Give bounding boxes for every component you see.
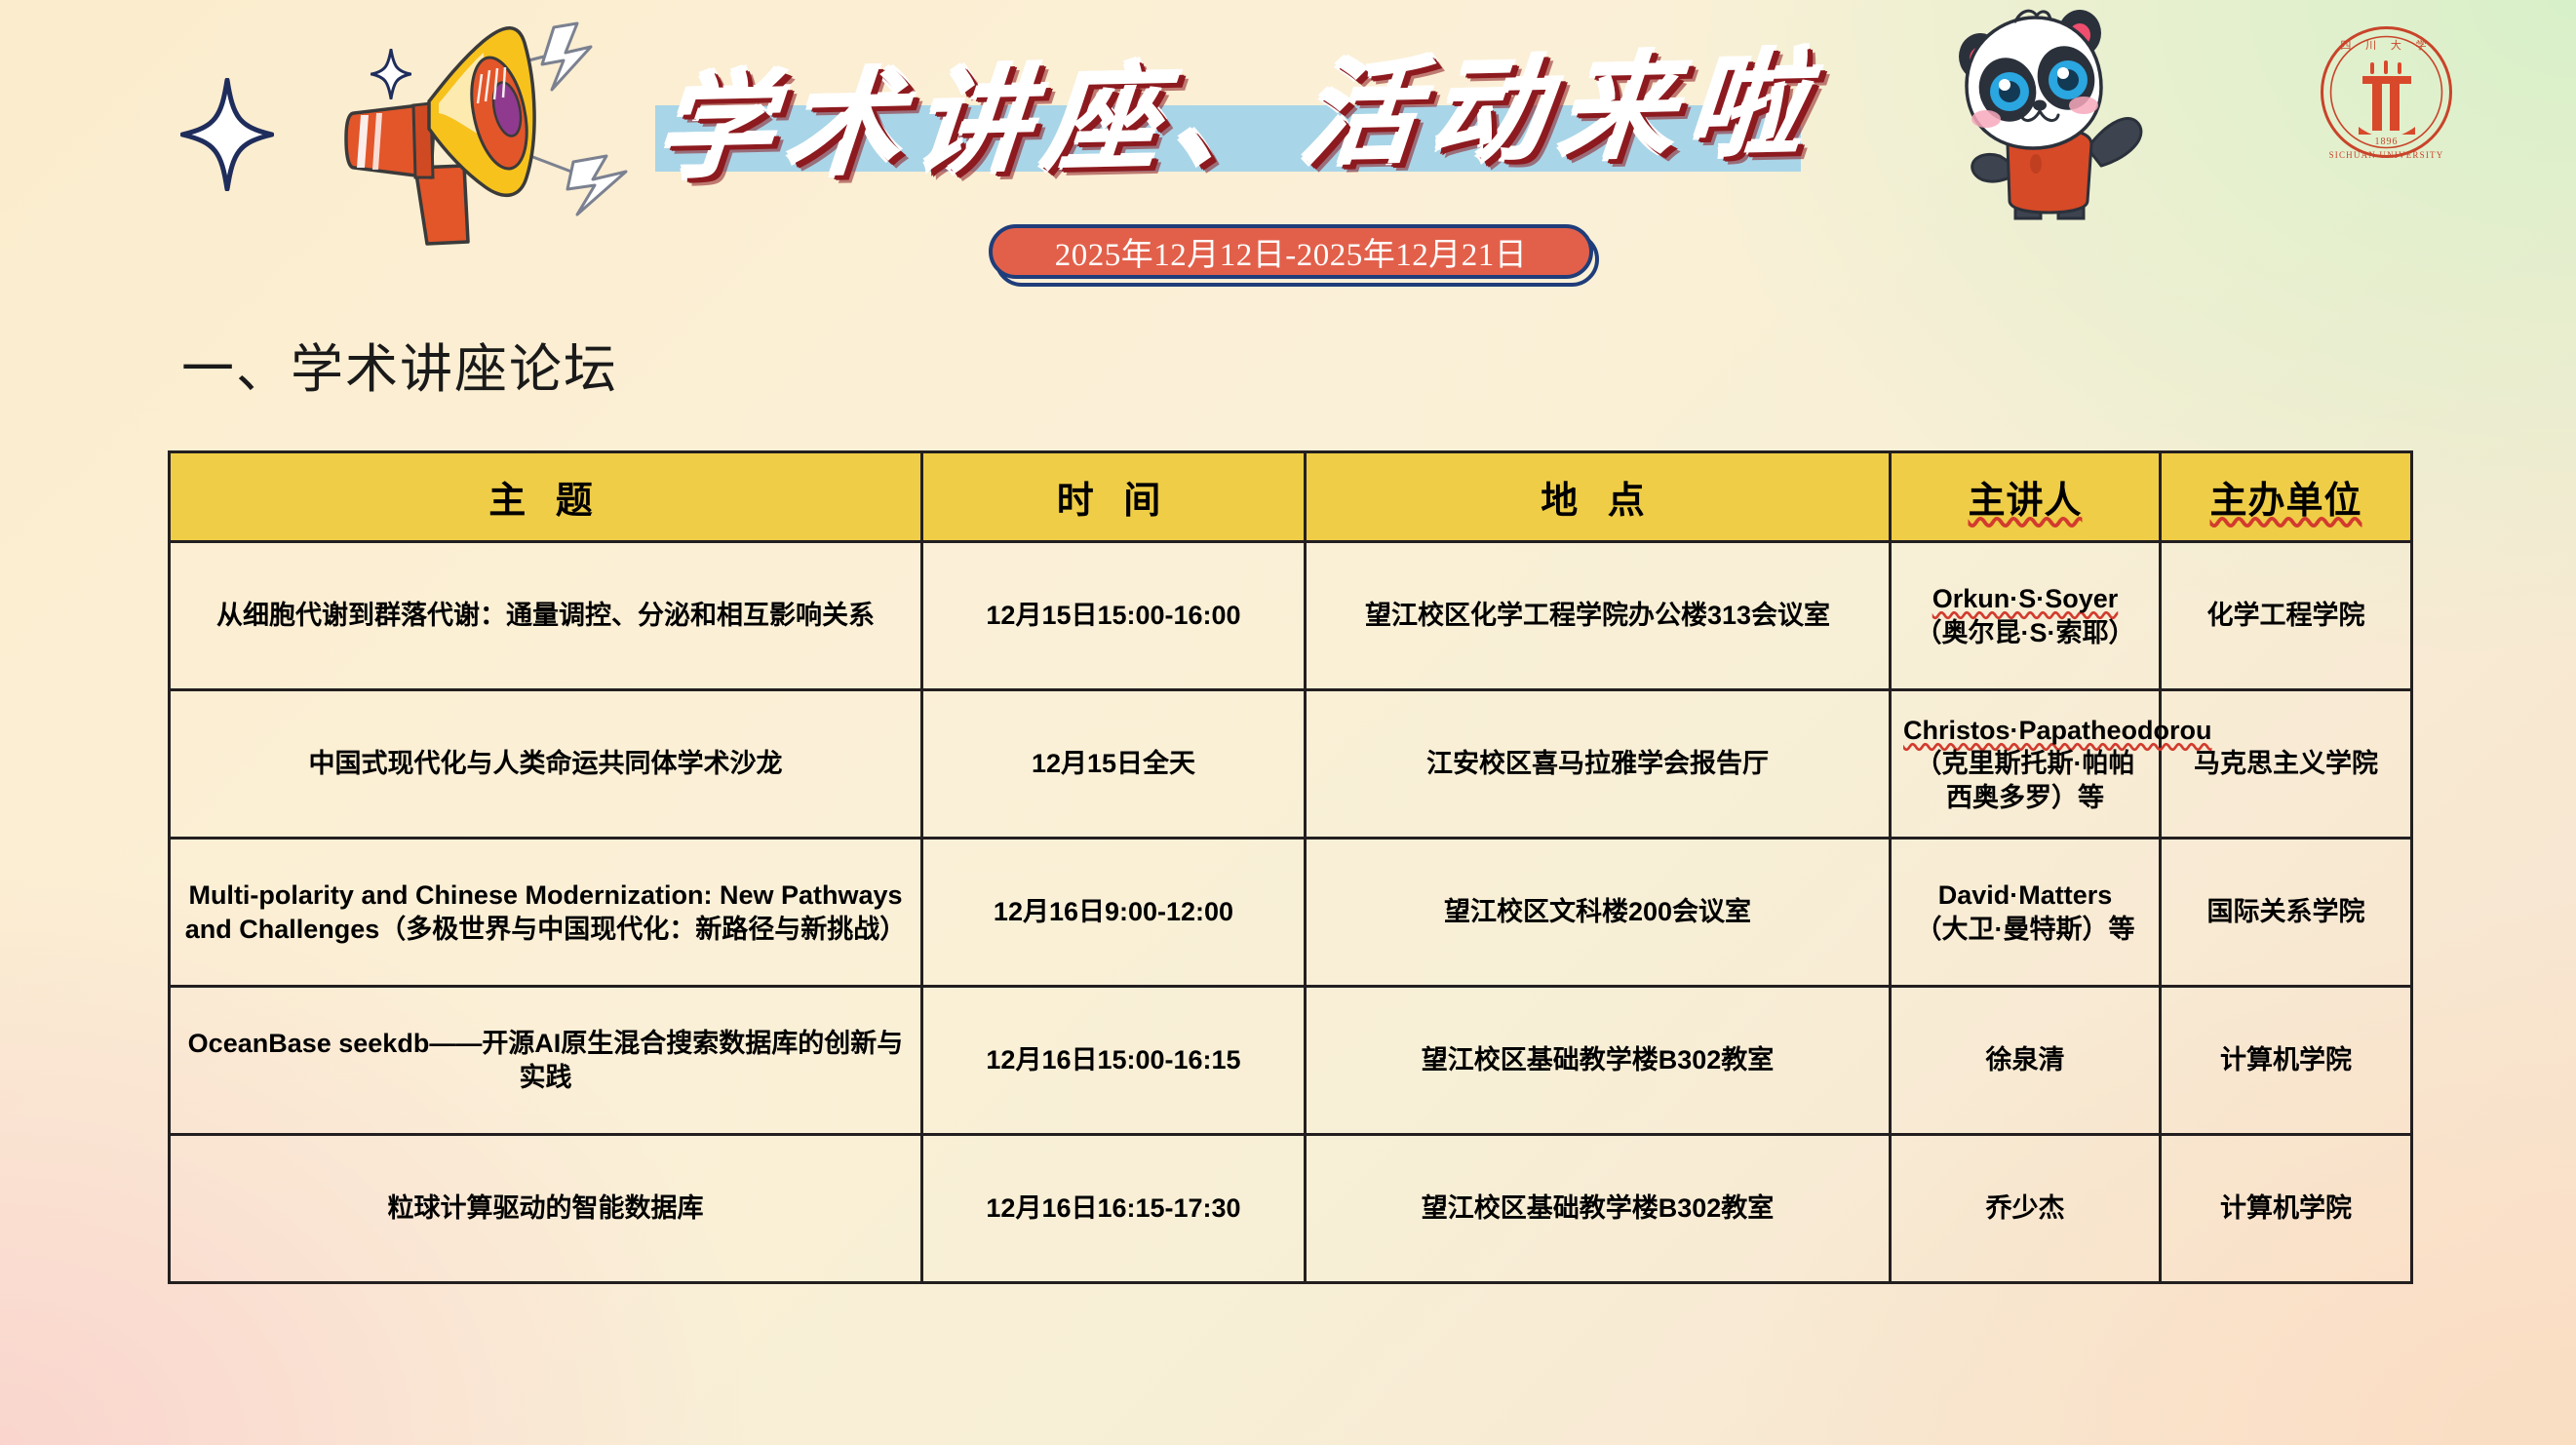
cell-place: 望江校区基础教学楼B302教室 bbox=[1306, 987, 1891, 1135]
table-row: 从细胞代谢到群落代谢：通量调控、分泌和相互影响关系 12月15日15:00-16… bbox=[170, 542, 2412, 690]
speaker-latin-name: David·Matters bbox=[1938, 880, 2113, 910]
cell-topic: Multi-polarity and Chinese Modernization… bbox=[170, 839, 922, 987]
cell-time: 12月16日15:00-16:15 bbox=[922, 987, 1306, 1135]
column-header-organizer: 主办单位 bbox=[2209, 481, 2361, 522]
schedule-table: 主 题 时 间 地 点 主讲人 主办单位 从细胞代谢到群落代谢：通量调控、分泌和… bbox=[168, 450, 2413, 1284]
table-row: 中国式现代化与人类命运共同体学术沙龙 12月15日全天 江安校区喜马拉雅学会报告… bbox=[170, 690, 2412, 839]
column-header-speaker: 主讲人 bbox=[1968, 481, 2082, 522]
table-row: 粒球计算驱动的智能数据库 12月16日16:15-17:30 望江校区基础教学楼… bbox=[170, 1135, 2412, 1283]
speaker-chinese-name: （大卫·曼特斯）等 bbox=[1916, 915, 2135, 944]
column-header-topic: 主 题 bbox=[170, 452, 922, 542]
speaker-chinese-name: （克里斯托斯·帕帕西奥多罗）等 bbox=[1916, 749, 2135, 812]
speaker-chinese-name: （奥尔昆·S·索耶） bbox=[1916, 618, 2135, 647]
svg-text:四 川 大 学: 四 川 大 学 bbox=[2340, 38, 2432, 52]
sichuan-university-logo: 1896 四 川 大 学 SICHUAN UNIVERSITY bbox=[2316, 21, 2457, 163]
date-range-badge: 2025年12月12日-2025年12月21日 bbox=[989, 224, 1593, 279]
cell-organizer: 化学工程学院 bbox=[2161, 542, 2412, 690]
cell-time: 12月15日全天 bbox=[922, 690, 1306, 839]
column-header-place: 地 点 bbox=[1306, 452, 1891, 542]
cell-topic: 从细胞代谢到群落代谢：通量调控、分泌和相互影响关系 bbox=[170, 542, 922, 690]
page-title: 学术讲座、活动来啦 bbox=[636, 15, 1841, 196]
cell-time: 12月16日16:15-17:30 bbox=[922, 1135, 1306, 1283]
cell-place: 江安校区喜马拉雅学会报告厅 bbox=[1306, 690, 1891, 839]
megaphone-icon bbox=[322, 20, 658, 254]
cell-time: 12月16日9:00-12:00 bbox=[922, 839, 1306, 987]
cell-speaker: Orkun·S·Soyer （奥尔昆·S·索耶） bbox=[1891, 542, 2161, 690]
section-heading: 一、学术讲座论坛 bbox=[181, 326, 618, 403]
cell-place: 望江校区基础教学楼B302教室 bbox=[1306, 1135, 1891, 1283]
table-header: 主 题 时 间 地 点 主讲人 主办单位 bbox=[170, 452, 2412, 542]
svg-text:SICHUAN UNIVERSITY: SICHUAN UNIVERSITY bbox=[2329, 150, 2444, 160]
speaker-latin-name: Orkun·S·Soyer bbox=[1932, 584, 2119, 613]
column-header-time: 时 间 bbox=[922, 452, 1306, 542]
table-row: Multi-polarity and Chinese Modernization… bbox=[170, 839, 2412, 987]
cell-organizer: 马克思主义学院 bbox=[2161, 690, 2412, 839]
cell-speaker: David·Matters （大卫·曼特斯）等 bbox=[1891, 839, 2161, 987]
table-row: OceanBase seekdb——开源AI原生混合搜索数据库的创新与实践 12… bbox=[170, 987, 2412, 1135]
svg-text:1896: 1896 bbox=[2375, 137, 2399, 147]
cell-organizer: 国际关系学院 bbox=[2161, 839, 2412, 987]
cell-topic: 粒球计算驱动的智能数据库 bbox=[170, 1135, 922, 1283]
cell-place: 望江校区化学工程学院办公楼313会议室 bbox=[1306, 542, 1891, 690]
cell-time: 12月15日15:00-16:00 bbox=[922, 542, 1306, 690]
cell-place: 望江校区文科楼200会议室 bbox=[1306, 839, 1891, 987]
cell-speaker: 乔少杰 bbox=[1891, 1135, 2161, 1283]
cell-topic: OceanBase seekdb——开源AI原生混合搜索数据库的创新与实践 bbox=[170, 987, 922, 1135]
panda-mascot-icon bbox=[1906, 2, 2208, 221]
speaker-latin-name: Christos·Papatheodorou bbox=[1903, 716, 2212, 745]
cell-topic: 中国式现代化与人类命运共同体学术沙龙 bbox=[170, 690, 922, 839]
table-header-row: 主 题 时 间 地 点 主讲人 主办单位 bbox=[170, 452, 2412, 542]
cell-organizer: 计算机学院 bbox=[2161, 987, 2412, 1135]
cell-speaker: Christos·Papatheodorou （克里斯托斯·帕帕西奥多罗）等 bbox=[1891, 690, 2161, 839]
sparkle-icon bbox=[180, 78, 274, 191]
cell-organizer: 计算机学院 bbox=[2161, 1135, 2412, 1283]
cell-speaker: 徐泉清 bbox=[1891, 987, 2161, 1135]
